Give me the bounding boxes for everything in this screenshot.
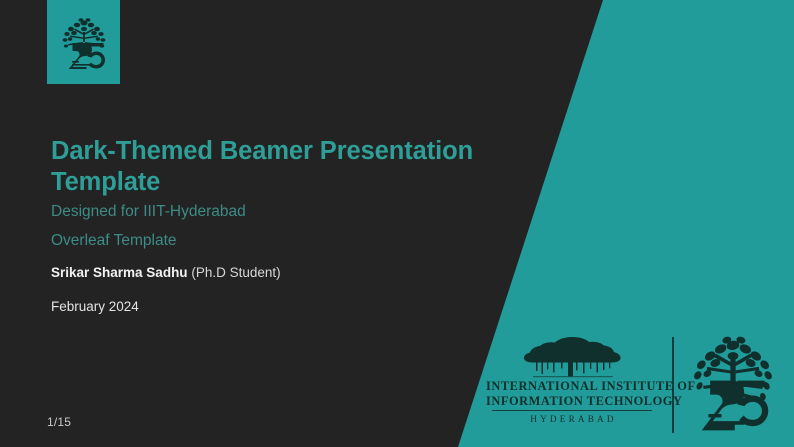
wordmark-divider-rule (492, 410, 652, 411)
footer-logo-lockup: INTERNATIONAL INSTITUTE OF INFORMATION T… (486, 333, 778, 437)
slide-title: Dark-Themed Beamer Presentation Template (51, 136, 481, 197)
author-name: Srikar Sharma Sadhu (51, 265, 188, 280)
logo-vertical-divider (672, 337, 674, 433)
presentation-slide: Dark-Themed Beamer Presentation Template… (0, 0, 794, 447)
title-block: Dark-Themed Beamer Presentation Template… (51, 136, 481, 314)
author-role: (Ph.D Student) (191, 265, 280, 280)
slide-subtitle-2: Overleaf Template (51, 233, 481, 249)
author-line: Srikar Sharma Sadhu (Ph.D Student) (51, 266, 481, 281)
iiit-25-anniversary-tree-logo-icon (59, 15, 109, 69)
slide-date: February 2024 (51, 300, 481, 315)
brand-badge (47, 0, 120, 84)
anniversary-logo (689, 333, 777, 437)
iiit-wordmark: INTERNATIONAL INSTITUTE OF INFORMATION T… (486, 333, 658, 424)
wordmark-line-2: INFORMATION TECHNOLOGY (486, 394, 658, 409)
wordmark-city: HYDERABAD (486, 414, 658, 424)
page-number: 1/15 (47, 415, 71, 429)
iiit-25-anniversary-tree-logo-icon (689, 333, 777, 437)
slide-subtitle-1: Designed for IIIT-Hyderabad (51, 204, 481, 220)
banyan-tree-icon (486, 333, 658, 379)
wordmark-line-1: INTERNATIONAL INSTITUTE OF (486, 379, 658, 394)
